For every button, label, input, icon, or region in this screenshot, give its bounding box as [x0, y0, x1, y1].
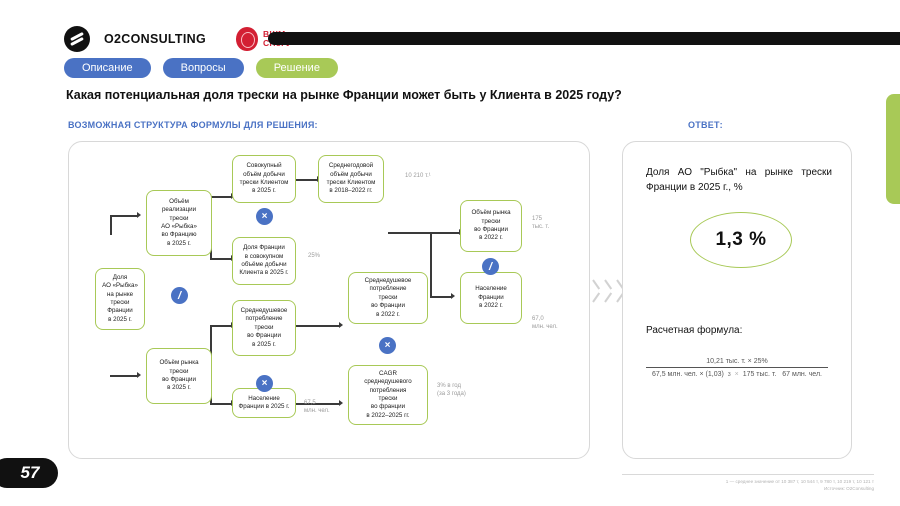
tab-opisanie[interactable]: Описание — [64, 58, 151, 78]
formula-inner-fraction: 175 тыс. т. 67 млн. чел. — [743, 371, 822, 378]
formula-numerator: 10,21 тыс. т. × 25% — [642, 358, 832, 367]
arrow-head — [451, 293, 455, 299]
operator-multiply-1: × — [256, 208, 273, 225]
formula-denominator: 67,5 млн. чел. × (1,03)3 × 175 тыс. т. 6… — [642, 368, 832, 378]
formula-inner-numerator: 175 тыс. т. — [743, 371, 777, 378]
arrow-head — [339, 400, 343, 406]
flow-box-cagr-per-capita: CAGR среднедушевого потребления трески в… — [348, 365, 428, 425]
connector — [296, 325, 340, 327]
section-heading-left: ВОЗМОЖНАЯ СТРУКТУРА ФОРМУЛЫ ДЛЯ РЕШЕНИЯ: — [68, 120, 318, 130]
connector — [296, 179, 318, 181]
slide-root: O2CONSULTING ВШМ СПбГУ Описание Вопросы … — [0, 0, 900, 506]
connector — [210, 325, 232, 327]
connector — [430, 296, 452, 298]
formula-exponent: 3 — [728, 372, 731, 378]
answer-value-badge: 1,3 % — [690, 212, 792, 268]
operator-divide-1: / — [171, 287, 188, 304]
flow-box-sales-volume-2025: Объём реализации трески АО «Рыбка» во Фр… — [146, 190, 212, 256]
connector — [430, 232, 432, 298]
arrow-head — [137, 212, 141, 218]
footnote-text: 1 — среднее значение от 10 387 т, 10 544… — [622, 479, 874, 486]
tab-reshenie[interactable]: Решение — [256, 58, 338, 78]
formula-numerator-text: 10,21 тыс. т. × 25% — [706, 358, 767, 365]
o2-logo-icon — [64, 26, 90, 52]
chevron-right-icon — [604, 268, 615, 314]
value-label-market-2022: 175 тыс. т. — [532, 216, 549, 232]
calc-formula: 10,21 тыс. т. × 25% 67,5 млн. чел. × (1,… — [642, 358, 832, 378]
chevron-right-icon — [592, 268, 603, 314]
connector — [388, 232, 460, 234]
brand-name: O2CONSULTING — [104, 32, 206, 46]
operator-multiply-3: × — [379, 337, 396, 354]
value-label-avg-catch: 10 210 т.¹ — [405, 173, 431, 181]
formula-mult-sign: × — [735, 371, 739, 378]
connector — [210, 258, 232, 260]
arrow-head — [137, 372, 141, 378]
value-label-population-2025: 67,5 млн. чел. — [304, 400, 330, 416]
flow-box-share-rybka-2025: Доля АО «Рыбка» на рынке трески Франции … — [95, 268, 145, 330]
tab-bar: Описание Вопросы Решение — [64, 58, 338, 78]
flow-box-per-capita-2025: Среднедушевое потребление трески во Фран… — [232, 300, 296, 356]
value-label-cagr: 3% в год (за 3 года) — [437, 383, 466, 399]
formula-inner-denominator: 67 млн. чел. — [782, 371, 822, 378]
connector — [110, 215, 112, 235]
flow-box-per-capita-2022: Среднедушевое потребление трески во Фран… — [348, 272, 428, 324]
connector — [210, 196, 232, 198]
value-label-population-2022: 67,0 млн. чел. — [532, 316, 558, 332]
footer-notes: 1 — среднее значение от 10 387 т, 10 544… — [622, 479, 874, 493]
connector — [110, 375, 138, 377]
flow-box-market-volume-2025: Объём рынка трески во Франции в 2025 г. — [146, 348, 212, 404]
connector — [110, 215, 138, 217]
right-accent-tab — [886, 94, 900, 204]
flow-box-market-volume-2022: Объём рынка трески во Франции в 2022 г. — [460, 200, 522, 252]
flow-box-total-catch-2025: Совокупный объём добычи трески Клиентом … — [232, 155, 296, 203]
flow-box-population-2022: Население Франции в 2022 г. — [460, 272, 522, 324]
source-text: Источник: O2Consulting — [622, 486, 874, 493]
connector — [210, 403, 232, 405]
section-heading-right: ОТВЕТ: — [688, 120, 723, 130]
vshm-seal-icon — [236, 27, 258, 51]
flow-box-avg-annual-catch: Среднегодовой объём добычи трески Клиент… — [318, 155, 384, 203]
formula-denominator-left: 67,5 млн. чел. × (1,03) — [652, 371, 724, 378]
page-title: Какая потенциальная доля трески на рынке… — [66, 88, 622, 102]
value-label-france-share: 25% — [308, 253, 320, 261]
operator-multiply-2: × — [256, 375, 273, 392]
page-number-badge: 57 — [0, 458, 58, 488]
header-rule — [268, 32, 900, 45]
footer-divider — [622, 474, 874, 475]
tab-voprosy[interactable]: Вопросы — [163, 58, 244, 78]
flow-box-france-share-of-catch: Доля Франции в совокупном объёме добычи … — [232, 237, 296, 285]
arrow-head — [339, 322, 343, 328]
header-logos: O2CONSULTING ВШМ СПбГУ — [64, 26, 292, 52]
answer-title: Доля АО "Рыбка" на рынке трески Франции … — [646, 165, 832, 195]
operator-divide-2: / — [482, 258, 499, 275]
calc-formula-label: Расчетная формула: — [646, 325, 742, 336]
flow-box-population-2025: Население Франции в 2025 г. — [232, 388, 296, 418]
